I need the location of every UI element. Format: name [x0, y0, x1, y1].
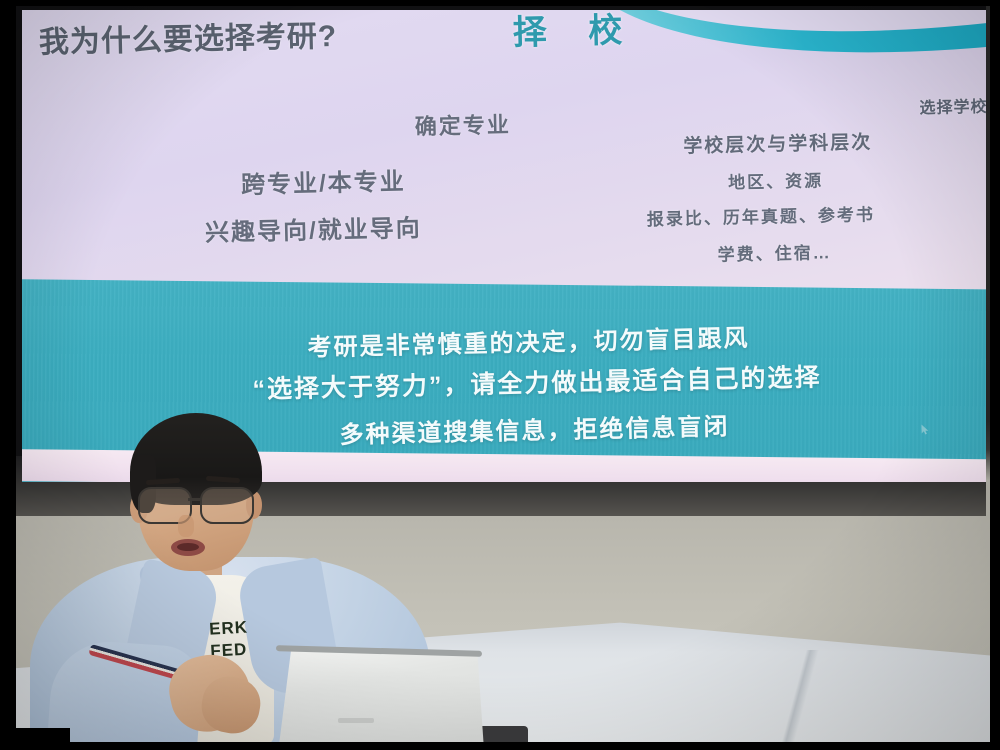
laptop-lid	[272, 650, 484, 750]
desk-seam	[610, 650, 1000, 750]
laptop-badge	[338, 718, 374, 723]
slide-left-column-heading: 确定专业	[414, 107, 511, 141]
photo-canvas: 我为什么要选择考研? 择 校 确定专业 跨专业/本专业 兴趣导向/就业导向 选择…	[0, 0, 1000, 750]
slide-left-column-line-1: 跨专业/本专业	[241, 161, 406, 200]
eyeglass-bridge	[188, 498, 202, 501]
slide-title: 择 校	[512, 10, 638, 54]
photo-border-left	[0, 0, 16, 750]
mouse-cursor-icon	[921, 424, 930, 435]
eyeglass-lens-right	[200, 487, 254, 524]
speaker-nose	[178, 515, 194, 537]
slide-question-heading: 我为什么要选择考研?	[38, 11, 337, 61]
eyeglasses-icon	[134, 487, 260, 521]
photo-border-bottom-left	[0, 728, 70, 750]
slide-left-column-line-2: 兴趣导向/就业导向	[205, 208, 422, 248]
photo-border-bottom	[0, 742, 1000, 750]
speaker-mouth-inner	[177, 543, 199, 551]
photo-border-right	[990, 0, 1000, 750]
slide-right-column-line-4: 学费、住宿…	[717, 238, 832, 265]
slide-right-column-heading: 选择学校	[919, 93, 986, 118]
slide-right-column-line-3: 报录比、历年真题、参考书	[647, 200, 875, 230]
photo-border-top	[0, 0, 1000, 6]
slide-right-column-line-1: 学校层次与学科层次	[683, 127, 873, 158]
slide-right-column-line-2: 地区、资源	[728, 166, 824, 193]
